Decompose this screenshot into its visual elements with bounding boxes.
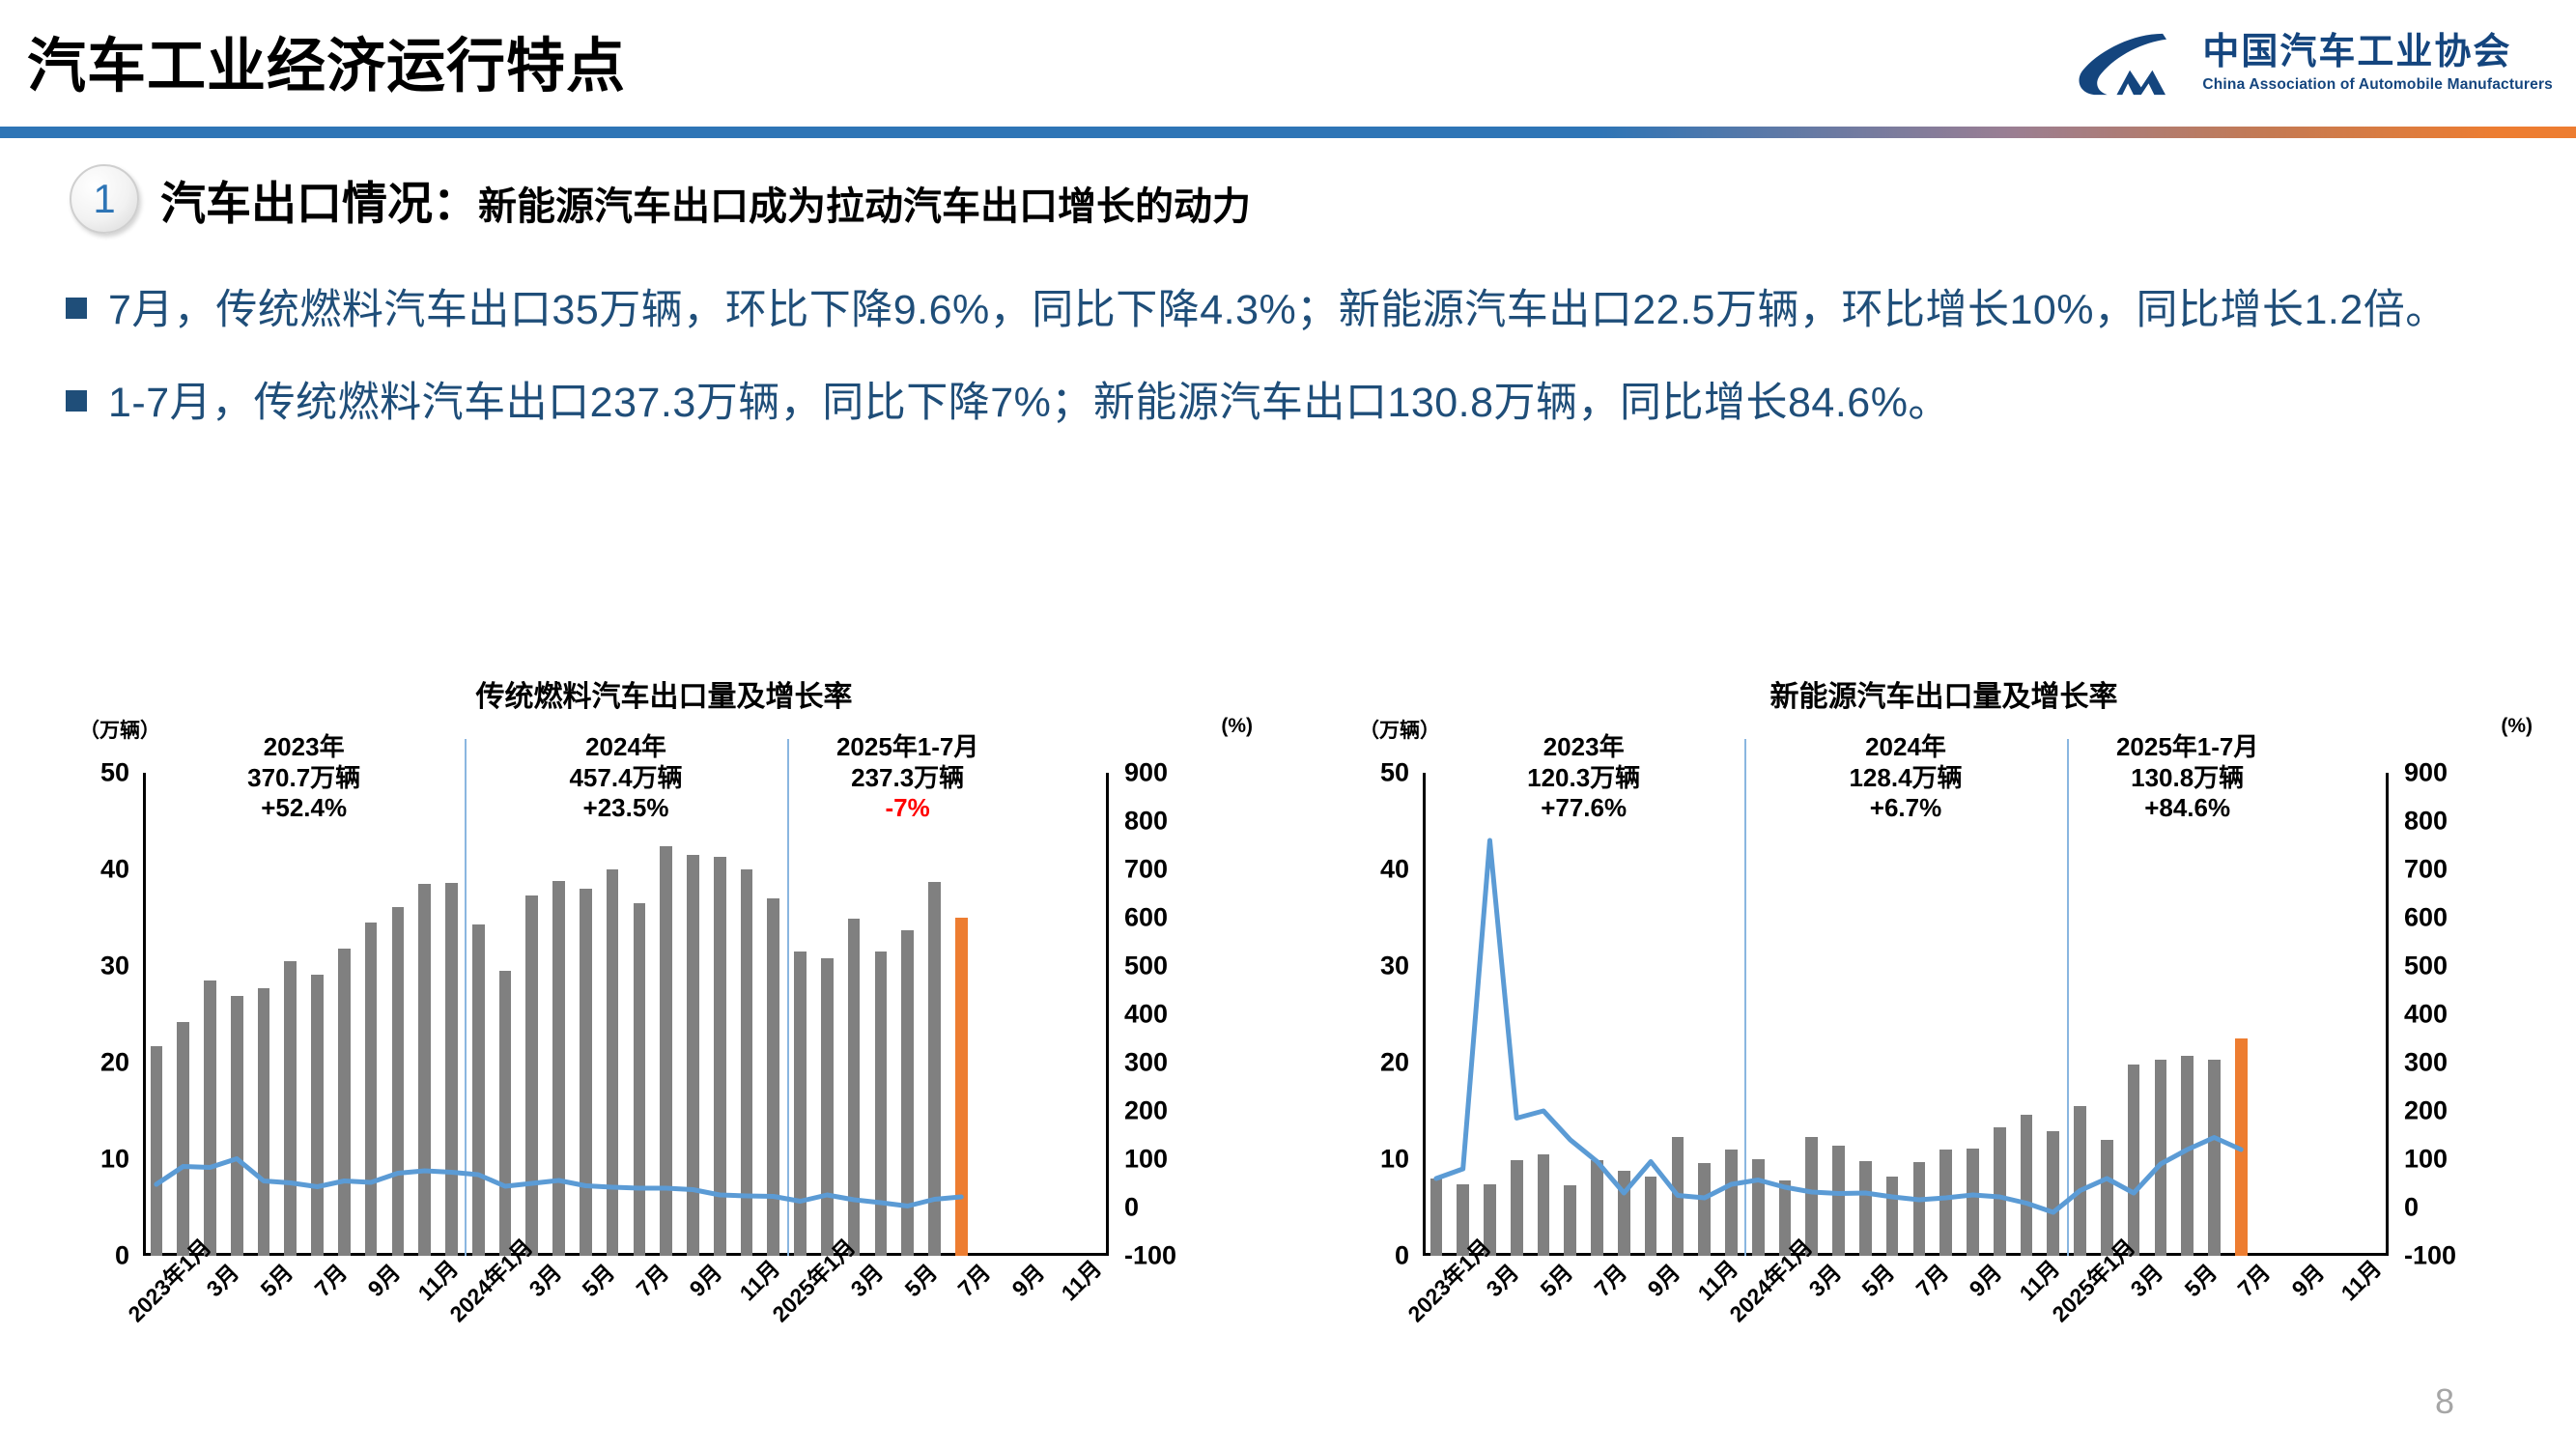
bar [392,907,405,1256]
page-number: 8 [2435,1381,2454,1422]
period-annotation: 2023年120.3万辆+77.6% [1527,732,1640,824]
x-axis-tick: 7月 [305,1255,353,1302]
y-axis-tick: 30 [100,952,143,981]
x-axis-tick: 7月 [1907,1255,1954,1302]
annotation-volume: 130.8万辆 [2116,763,2258,794]
x-axis-labels: 2023年1月3月5月7月9月11月2024年1月3月5月7月9月11月2025… [143,1267,1109,1403]
period-annotation: 2023年370.7万辆+52.4% [247,732,360,824]
x-axis-tick: 5月 [895,1255,943,1302]
y2-axis-tick: 600 [2389,903,2448,933]
annotation-growth: +77.6% [1527,793,1640,824]
list-item: 7月，传统燃料汽车出口35万辆，环比下降9.6%，同比下降4.3%；新能源汽车出… [66,280,2500,340]
annotation-volume: 237.3万辆 [836,763,978,794]
brand-logo: 中国汽车工业协会 China Association of Automobile… [2075,15,2553,112]
bar [1967,1149,1979,1256]
x-axis-tick: 11月 [2333,1251,2389,1307]
y-axis-tick: 20 [100,1048,143,1078]
chart-title: 新能源汽车出口量及增长率 [1309,672,2550,715]
y2-axis-tick: -100 [1109,1241,1176,1271]
bar [231,996,243,1256]
bar [580,889,592,1256]
annotation-volume: 128.4万辆 [1849,763,1962,794]
chart-fuel-vehicle-export: 传统燃料汽车出口量及增长率 （万辆） (%) 01020304050-10001… [29,667,1270,1381]
bar [258,988,270,1256]
bullet-list: 7月，传统燃料汽车出口35万辆，环比下降9.6%，同比下降4.3%；新能源汽车出… [66,280,2500,467]
slide-root: 汽车工业经济运行特点 中国汽车工业协会 China Association of… [0,0,2576,1449]
bullet-text: 7月，传统燃料汽车出口35万辆，环比下降9.6%，同比下降4.3%；新能源汽车出… [108,280,2448,340]
bar [1672,1137,1684,1256]
bar [901,930,914,1256]
y2-axis-tick: 400 [1109,1000,1168,1030]
bar [1939,1150,1952,1256]
bar [311,975,324,1256]
y-axis-tick: 20 [1380,1048,1423,1078]
section-heading: 1 汽车出口情况：新能源汽车出口成为拉动汽车出口增长的动力 [70,164,1251,234]
y2-axis-tick: 700 [1109,855,1168,885]
chart-y2-axis-unit: (%) [1221,715,1253,738]
bar [1805,1137,1818,1256]
y2-axis-tick: 200 [2389,1096,2448,1126]
x-axis-tick: 5月 [2175,1255,2222,1302]
plot-area: 01020304050-1000100200300400500600700800… [1423,773,2389,1256]
bar [499,971,512,1256]
y2-axis-tick: 800 [2389,807,2448,837]
bar [338,949,351,1256]
y-axis-tick: 50 [1380,758,1423,788]
y2-axis-tick: 900 [1109,758,1168,788]
bar [741,869,753,1256]
x-axis-tick: 5月 [1854,1255,1901,1302]
bar [2021,1115,2033,1256]
bar [445,883,458,1256]
section-title-main: 汽车出口情况： [160,178,478,229]
x-axis-tick: 9月 [2282,1255,2330,1302]
y2-axis-tick: 0 [1109,1193,1139,1223]
bar [284,961,297,1256]
x-axis-tick: 7月 [627,1255,674,1302]
bullet-text: 1-7月，传统燃料汽车出口237.3万辆，同比下降7%；新能源汽车出口130.8… [108,373,1950,433]
chart-y-axis-unit: （万辆） [1359,715,1440,744]
y2-axis-tick: 100 [1109,1145,1168,1175]
chart-y-axis-unit: （万辆） [79,715,160,744]
y2-axis-tick: 600 [1109,903,1168,933]
x-axis-tick: 5月 [574,1255,621,1302]
annotation-period: 2024年 [1849,732,1962,763]
brand-name-cn: 中国汽车工业协会 [2202,34,2553,72]
brand-name-en: China Association of Automobile Manufact… [2202,76,2553,94]
x-axis-tick: 9月 [1638,1255,1685,1302]
bar [794,952,807,1256]
x-axis-tick: 7月 [1585,1255,1632,1302]
period-annotation: 2024年457.4万辆+23.5% [569,732,682,824]
bar [1913,1162,1926,1256]
x-axis-labels: 2023年1月3月5月7月9月11月2024年1月3月5月7月9月11月2025… [1423,1267,2389,1403]
y2-axis-tick: 500 [2389,952,2448,981]
bar [821,958,834,1256]
bar [472,924,485,1256]
bar [1752,1159,1765,1256]
bar [2155,1060,2167,1256]
y2-axis-tick: 900 [2389,758,2448,788]
annotation-growth: +52.4% [247,793,360,824]
bar [955,918,968,1256]
bar [1859,1161,1872,1256]
y2-axis-tick: 200 [1109,1096,1168,1126]
y-axis-tick: 40 [1380,855,1423,885]
annotation-volume: 120.3万辆 [1527,763,1640,794]
bar [1645,1177,1657,1256]
chart-y2-axis-unit: (%) [2501,715,2533,738]
bar [1564,1185,1576,1256]
bar [204,980,216,1256]
bar [2181,1056,2194,1256]
bar [2128,1065,2140,1256]
period-annotation: 2025年1-7月237.3万辆-7% [836,732,978,824]
cam-logo-icon [2075,29,2189,99]
bar [177,1022,189,1256]
chart-nev-export: 新能源汽车出口量及增长率 （万辆） (%) 01020304050-100010… [1309,667,2550,1381]
period-annotation: 2025年1-7月130.8万辆+84.6% [2116,732,2258,824]
period-annotation: 2024年128.4万辆+6.7% [1849,732,1962,824]
bar [2208,1060,2221,1256]
y-axis-tick: 10 [1380,1145,1423,1175]
bar [1591,1160,1603,1256]
bar [767,898,779,1256]
x-axis-tick: 5月 [1531,1255,1578,1302]
bar [634,903,646,1256]
bar [1698,1163,1711,1256]
annotation-volume: 370.7万辆 [247,763,360,794]
x-axis-tick: 7月 [2229,1255,2277,1302]
bar [2235,1038,2248,1256]
y2-axis-tick: 300 [2389,1048,2448,1078]
square-bullet-icon [66,298,87,319]
y-axis-tick: 30 [1380,952,1423,981]
x-axis-tick: 5月 [251,1255,298,1302]
annotation-period: 2023年 [1527,732,1640,763]
bar [151,1046,163,1256]
bar [714,857,726,1256]
bar [928,882,941,1256]
y2-axis-tick: 700 [2389,855,2448,885]
list-item: 1-7月，传统燃料汽车出口237.3万辆，同比下降7%；新能源汽车出口130.8… [66,373,2500,433]
bar [1538,1154,1550,1256]
bar [1511,1160,1523,1256]
bar [660,846,672,1256]
x-axis-tick: 7月 [949,1255,997,1302]
annotation-growth: +6.7% [1849,793,1962,824]
section-title-sub: 新能源汽车出口成为拉动汽车出口增长的动力 [478,185,1251,228]
year-divider [1744,739,1746,1256]
annotation-growth: -7% [836,793,978,824]
annotation-period: 2024年 [569,732,682,763]
bar [525,895,538,1256]
y-axis-tick: 0 [115,1241,143,1271]
x-axis-tick: 9月 [358,1255,406,1302]
bar [1994,1127,2006,1256]
bar [418,884,431,1256]
annotation-growth: +84.6% [2116,793,2258,824]
y2-axis-tick: 400 [2389,1000,2448,1030]
y2-axis-tick: 0 [2389,1193,2419,1223]
bar [1618,1171,1630,1256]
bar [875,952,888,1256]
y-axis-tick: 40 [100,855,143,885]
y2-axis-tick: 300 [1109,1048,1168,1078]
bar [1832,1146,1845,1256]
year-divider [465,739,467,1256]
x-axis-tick: 9月 [1961,1255,2008,1302]
bar [848,919,861,1256]
plot-area: 01020304050-1000100200300400500600700800… [143,773,1109,1256]
y2-axis-tick: 100 [2389,1145,2448,1175]
annotation-period: 2023年 [247,732,360,763]
bar [1886,1177,1899,1256]
page-title: 汽车工业经济运行特点 [27,17,626,103]
annotation-growth: +23.5% [569,793,682,824]
y-axis-tick: 0 [1395,1241,1423,1271]
annotation-volume: 457.4万辆 [569,763,682,794]
bar [1430,1179,1443,1256]
bar [687,855,699,1256]
x-axis-tick: 9月 [1003,1255,1050,1302]
x-axis-tick: 11月 [1053,1251,1109,1307]
chart-title: 传统燃料汽车出口量及增长率 [29,672,1270,715]
annotation-period: 2025年1-7月 [2116,732,2258,763]
section-number-badge: 1 [70,164,139,234]
bar [552,881,565,1256]
bar [2074,1106,2086,1256]
y-axis-tick: 10 [100,1145,143,1175]
bar [2047,1131,2059,1256]
bar [365,923,378,1256]
square-bullet-icon [66,390,87,412]
section-title: 汽车出口情况：新能源汽车出口成为拉动汽车出口增长的动力 [160,166,1251,233]
y2-axis-tick: 800 [1109,807,1168,837]
x-axis-tick: 9月 [681,1255,728,1302]
bar [1725,1150,1738,1256]
y2-axis-tick: 500 [1109,952,1168,981]
year-divider [787,739,789,1256]
y2-axis-tick: -100 [2389,1241,2456,1271]
annotation-period: 2025年1-7月 [836,732,978,763]
year-divider [2067,739,2069,1256]
header-divider [0,127,2576,138]
bar [607,869,619,1256]
y-axis-tick: 50 [100,758,143,788]
